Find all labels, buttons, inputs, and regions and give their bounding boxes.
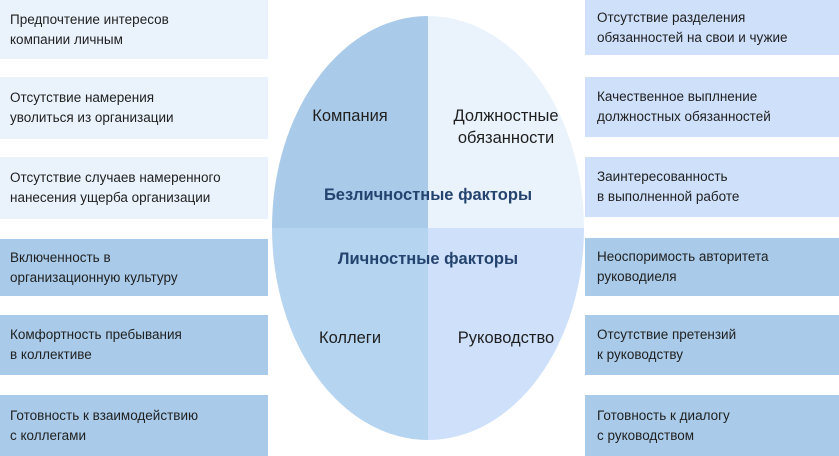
left-box-culture-involvement: Включенность в организационную культуру xyxy=(0,239,268,296)
left-box-company-interests: Предпочтение интересов компании личным xyxy=(0,0,268,59)
left-box-colleague-readiness: Готовность к взаимодействию с коллегами xyxy=(0,395,268,456)
quadrant-label-colleagues: Коллеги xyxy=(272,327,428,349)
right-box-leader-authority: Неоспоримость авторитета руководиеля xyxy=(585,238,839,296)
right-box-quality-duties: Качественное выплнение должностных обяза… xyxy=(585,77,839,137)
band-label-impersonal: Безличностные факторы xyxy=(272,186,584,205)
left-box-no-quit-intent: Отсутствие намерения уволиться из органи… xyxy=(0,77,268,139)
right-box-dialog-readiness: Готовность к диалогу с руководством xyxy=(585,395,839,456)
right-box-work-interest: Заинтересованность в выполненной работе xyxy=(585,157,839,217)
diagram-canvas: Компания Должностные обязанности Коллеги… xyxy=(0,0,839,456)
right-box-no-complaints: Отсутствие претензий к руководству xyxy=(585,315,839,375)
quadrant-label-management: Руководство xyxy=(428,327,584,349)
left-box-team-comfort: Комфортность пребывания в коллективе xyxy=(0,315,268,375)
quadrant-label-company: Компания xyxy=(272,105,428,127)
left-box-no-deliberate-harm: Отсутствие случаев намеренного нанесения… xyxy=(0,157,268,219)
band-label-personal: Личностные факторы xyxy=(272,250,584,269)
quadrant-circle xyxy=(272,16,584,440)
quadrant-label-duties: Должностные обязанности xyxy=(428,105,584,150)
right-box-no-duty-split: Отсутствие разделения обязанностей на св… xyxy=(585,0,839,55)
